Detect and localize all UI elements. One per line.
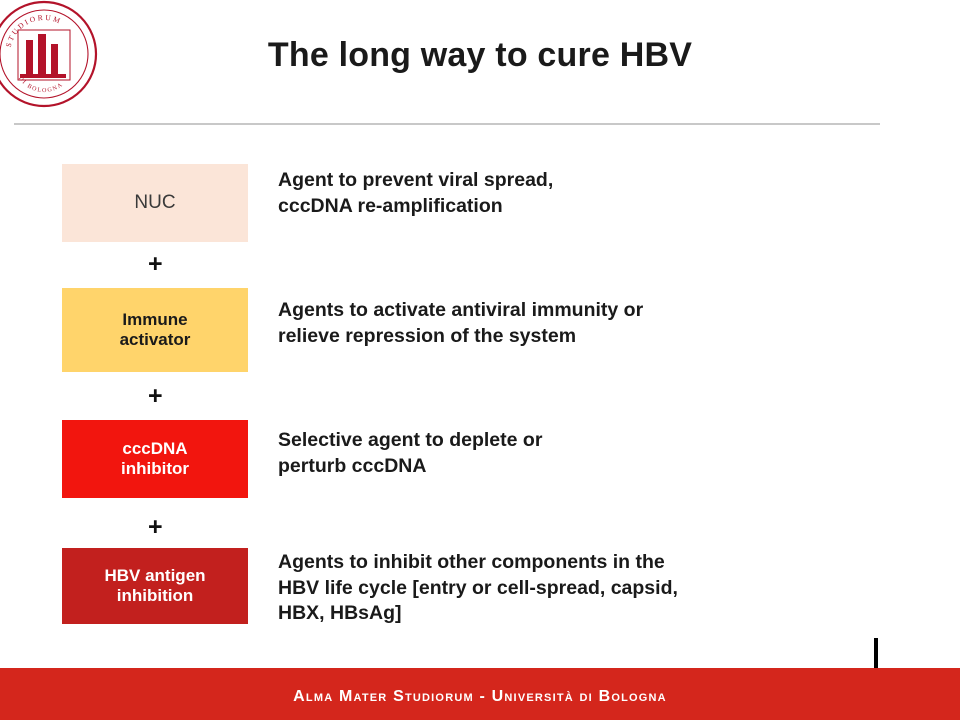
therapy-description-nuc: Agent to prevent viral spread, cccDNA re… [278,168,553,219]
therapy-box-immune-activator-label: Immune activator [120,310,191,349]
slide-content: NUC Agent to prevent viral spread, cccDN… [0,140,960,650]
therapy-box-hbv-antigen-inhibition: HBV antigen inhibition [62,548,248,624]
therapy-description-immune-activator: Agents to activate antiviral immunity or… [278,298,643,349]
therapy-description-cccdna-inhibitor: Selective agent to deplete or perturb cc… [278,428,542,479]
therapy-box-immune-activator: Immune activator [62,288,248,372]
plus-connector-3: + [148,515,163,540]
therapy-box-nuc: NUC [62,164,248,242]
therapy-description-hbv-antigen-inhibition: Agents to inhibit other components in th… [278,550,678,627]
footer-label: Alma Mater Studiorum - Università di Bol… [0,688,960,706]
university-seal-logo: STUDIORUM DI BOLOGNA [0,0,104,128]
plus-connector-1: + [148,252,163,277]
footer-tick-mark [874,638,878,668]
therapy-box-nuc-label: NUC [134,192,175,214]
therapy-box-cccdna-inhibitor: cccDNA inhibitor [62,420,248,498]
therapy-box-cccdna-inhibitor-label: cccDNA inhibitor [121,439,189,478]
title-divider [14,123,880,125]
therapy-box-hbv-antigen-inhibition-label: HBV antigen inhibition [104,566,205,605]
plus-connector-2: + [148,384,163,409]
page-title: The long way to cure HBV [0,36,960,75]
